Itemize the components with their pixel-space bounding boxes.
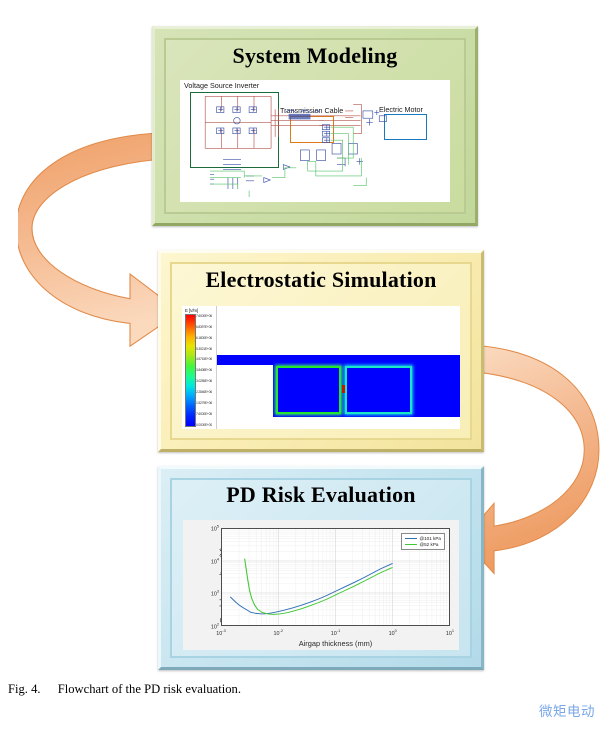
chart-y-tick: 103	[211, 589, 219, 598]
colorbar-tick: 5.3021E+06	[196, 348, 216, 351]
chart-x-tick: 10-1	[331, 628, 340, 637]
colorbar-gradient-strip	[185, 314, 196, 427]
chart-legend: @101 kPa @52 kPa	[401, 533, 445, 550]
panel-electrostatic-inner: Electrostatic Simulation E [V/m] 7.6000E…	[170, 262, 472, 440]
ground-notch	[217, 365, 273, 417]
legend-swatch-52kPa	[405, 544, 417, 545]
chart-x-tick: 10-3	[216, 628, 225, 637]
legend-label: @101 kPa	[419, 536, 441, 541]
chart-x-tick: 10-2	[274, 628, 283, 637]
colorbar-tick: 2.2846E+06	[196, 391, 216, 394]
legend-entry-101kPa: @101 kPa	[405, 536, 441, 541]
panel-pd-inner: PD Risk Evaluation Breakdown voltage (V)…	[170, 478, 472, 658]
colorbar-tick: 4.5715E+06	[196, 358, 216, 361]
curved-arrow-electrostatic-to-pd	[466, 342, 601, 582]
colorbar-body: 7.6000E+06 6.8397E+06 6.1800E+06 5.3021E…	[182, 314, 216, 429]
chart-x-axis-label: Airgap thickness (mm)	[221, 639, 450, 648]
colorbar-tick: 0.0000E+00	[196, 424, 216, 427]
colorbar-tick: 3.0255E+06	[196, 380, 216, 383]
panel-pd-title: PD Risk Evaluation	[172, 480, 470, 508]
panel-pd-risk-evaluation: PD Risk Evaluation Breakdown voltage (V)…	[158, 466, 484, 670]
conductor-left	[278, 368, 339, 412]
chart-y-tick: 105	[211, 524, 219, 533]
colorbar-tick: 7.6000E+06	[196, 315, 216, 318]
chart-x-tick: 100	[389, 628, 397, 637]
schematic-strokes	[180, 80, 450, 202]
colorbar-tick: 6.8397E+06	[196, 326, 216, 329]
colorbar-tick: 1.5279E+06	[196, 402, 216, 405]
pd-breakdown-chart: Breakdown voltage (V) Airgap thickness (…	[183, 520, 459, 650]
panel-electrostatic-title: Electrostatic Simulation	[172, 264, 470, 293]
colorbar-tick: 6.1800E+06	[196, 337, 216, 340]
legend-swatch-101kPa	[405, 538, 417, 539]
chart-y-tick: 104	[211, 556, 219, 565]
field-hotspot	[342, 385, 345, 394]
figure-number: Fig. 4.	[8, 682, 41, 696]
panel-system-modeling: System Modeling Voltage Source Inverter …	[152, 26, 478, 226]
series-101kPa-line	[231, 564, 393, 614]
figure-caption-text: Flowchart of the PD risk evaluation.	[58, 682, 241, 696]
panel-electrostatic-simulation: Electrostatic Simulation E [V/m] 7.6000E…	[158, 250, 484, 452]
chart-plot-area: @101 kPa @52 kPa	[221, 528, 450, 626]
chart-x-tick: 101	[446, 628, 454, 637]
field-contour-area	[217, 306, 460, 429]
legend-entry-52kPa: @52 kPa	[405, 542, 441, 547]
field-colorbar: E [V/m] 7.6000E+06 6.8397E+06 6.1800E+06…	[182, 306, 217, 429]
legend-label: @52 kPa	[419, 542, 438, 547]
conductor-right	[347, 368, 410, 412]
colorbar-tick: 7.6000E+05	[196, 413, 216, 416]
panel-modeling-inner: System Modeling Voltage Source Inverter …	[164, 38, 466, 214]
system-modeling-circuit-diagram: Voltage Source Inverter Transmission Cab…	[180, 80, 450, 202]
colorbar-tick: 3.8408E+06	[196, 369, 216, 372]
panel-modeling-title: System Modeling	[166, 40, 464, 69]
watermark: 微矩电动	[539, 700, 595, 720]
colorbar-title: E [V/m]	[182, 306, 198, 314]
colorbar-tick-labels: 7.6000E+06 6.8397E+06 6.1800E+06 5.3021E…	[196, 314, 216, 429]
figure-caption: Fig. 4. Flowchart of the PD risk evaluat…	[8, 682, 241, 697]
electrostatic-field-plot: E [V/m] 7.6000E+06 6.8397E+06 6.1800E+06…	[182, 306, 460, 429]
